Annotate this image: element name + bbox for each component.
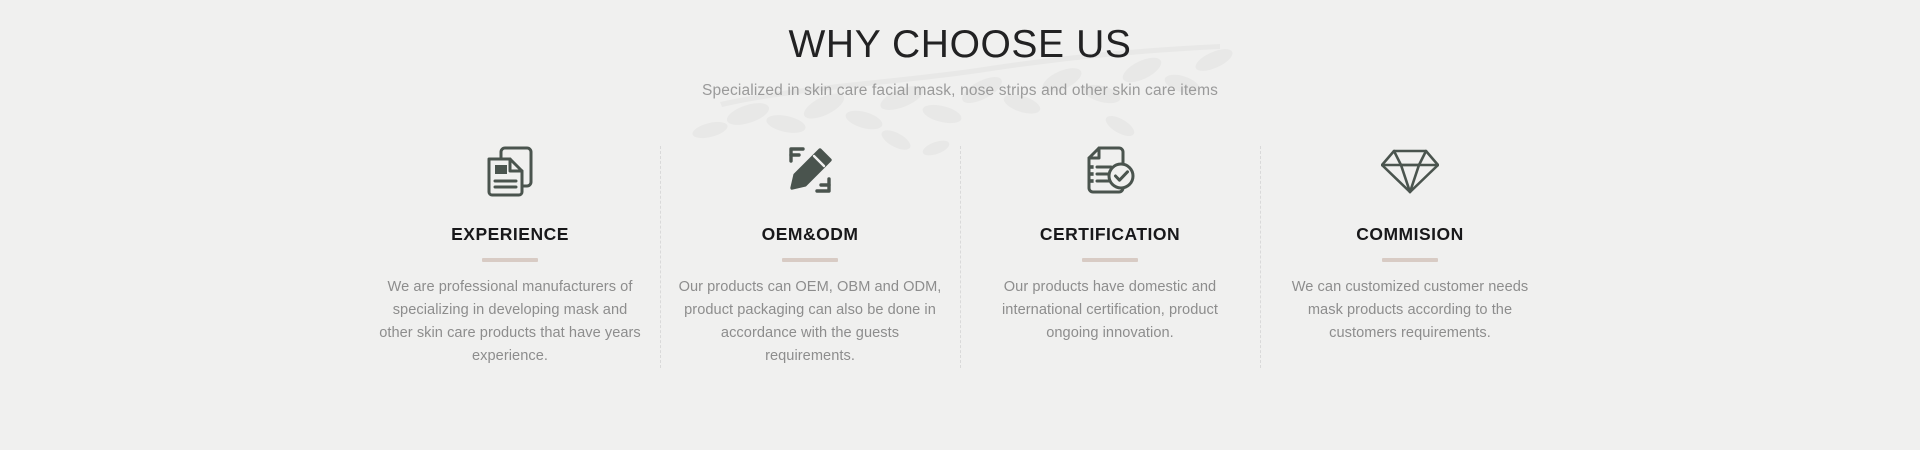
feature-text: Our products have domestic and internati…: [978, 276, 1242, 345]
feature-list: EXPERIENCE We are professional manufactu…: [340, 142, 1580, 368]
feature-text: We can customized customer needs mask pr…: [1278, 276, 1542, 345]
feature-rule: [782, 258, 838, 262]
why-choose-us-section: WHY CHOOSE US Specialized in skin care f…: [0, 0, 1920, 450]
feature-card-certification[interactable]: CERTIFICATION Our products have domestic…: [960, 142, 1260, 345]
feature-rule: [482, 258, 538, 262]
feature-title: COMMISION: [1278, 224, 1542, 245]
diamond-icon: [1278, 142, 1542, 198]
section-header: WHY CHOOSE US Specialized in skin care f…: [0, 0, 1920, 100]
certificate-check-icon: [978, 142, 1242, 198]
feature-text: Our products can OEM, OBM and ODM, produ…: [678, 276, 942, 368]
feature-title: OEM&ODM: [678, 224, 942, 245]
feature-card-oem-odm[interactable]: OEM&ODM Our products can OEM, OBM and OD…: [660, 142, 960, 368]
feature-card-experience[interactable]: EXPERIENCE We are professional manufactu…: [360, 142, 660, 368]
page-title: WHY CHOOSE US: [0, 22, 1920, 67]
documents-icon: [378, 142, 642, 198]
feature-title: CERTIFICATION: [978, 224, 1242, 245]
feature-rule: [1382, 258, 1438, 262]
page-subtitle: Specialized in skin care facial mask, no…: [0, 82, 1920, 100]
pencil-design-icon: [678, 142, 942, 198]
feature-text: We are professional manufacturers of spe…: [378, 276, 642, 368]
feature-title: EXPERIENCE: [378, 224, 642, 245]
feature-rule: [1082, 258, 1138, 262]
feature-card-commision[interactable]: COMMISION We can customized customer nee…: [1260, 142, 1560, 345]
